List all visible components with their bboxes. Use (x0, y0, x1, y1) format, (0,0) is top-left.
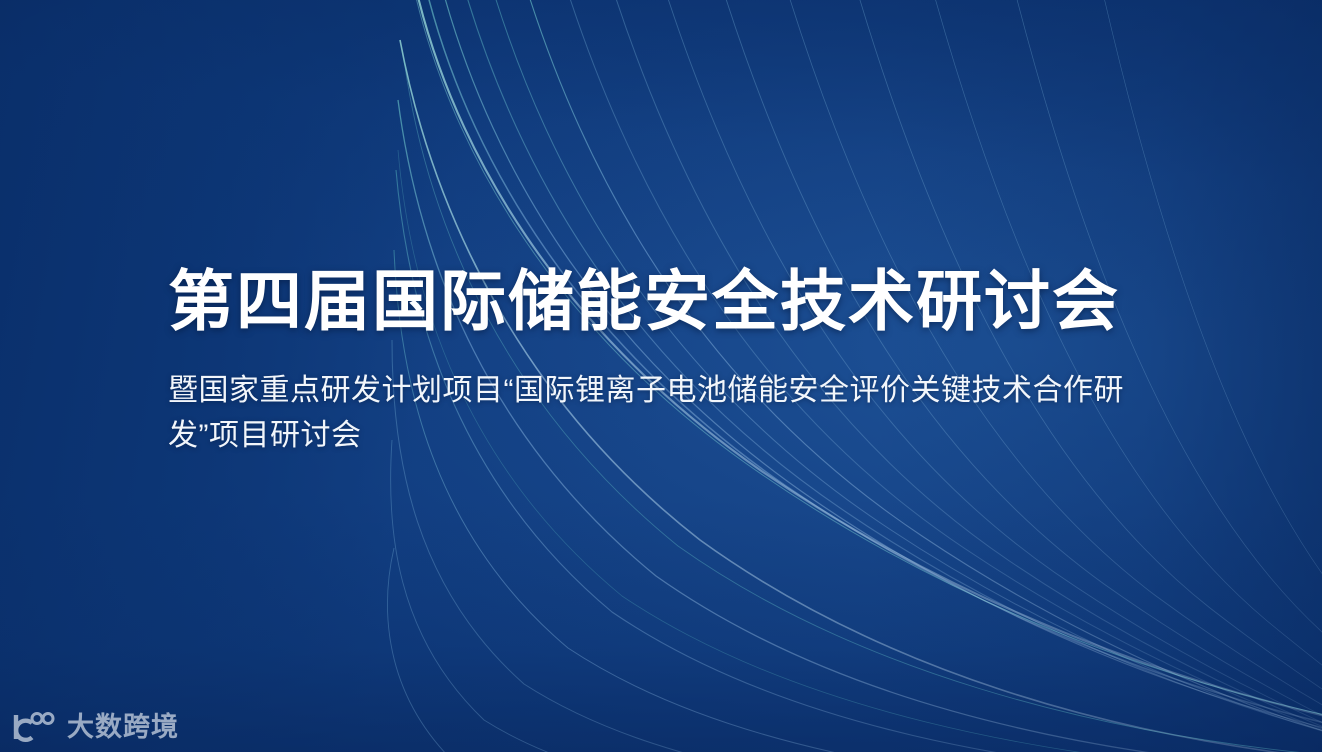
poster-subtitle: 暨国家重点研发计划项目“国际锂离子电池储能安全评价关键技术合作研发”项目研讨会 (168, 368, 1178, 458)
watermark-label: 大数跨境 (67, 712, 179, 742)
conference-poster: 第四届国际储能安全技术研讨会 暨国家重点研发计划项目“国际锂离子电池储能安全评价… (0, 0, 1322, 752)
page-title: 第四届国际储能安全技术研讨会 (168, 262, 1198, 340)
poster-text-block: 第四届国际储能安全技术研讨会 暨国家重点研发计划项目“国际锂离子电池储能安全评价… (168, 262, 1198, 458)
watermark: 大数跨境 (10, 710, 179, 744)
k100-logo-icon (10, 710, 58, 744)
